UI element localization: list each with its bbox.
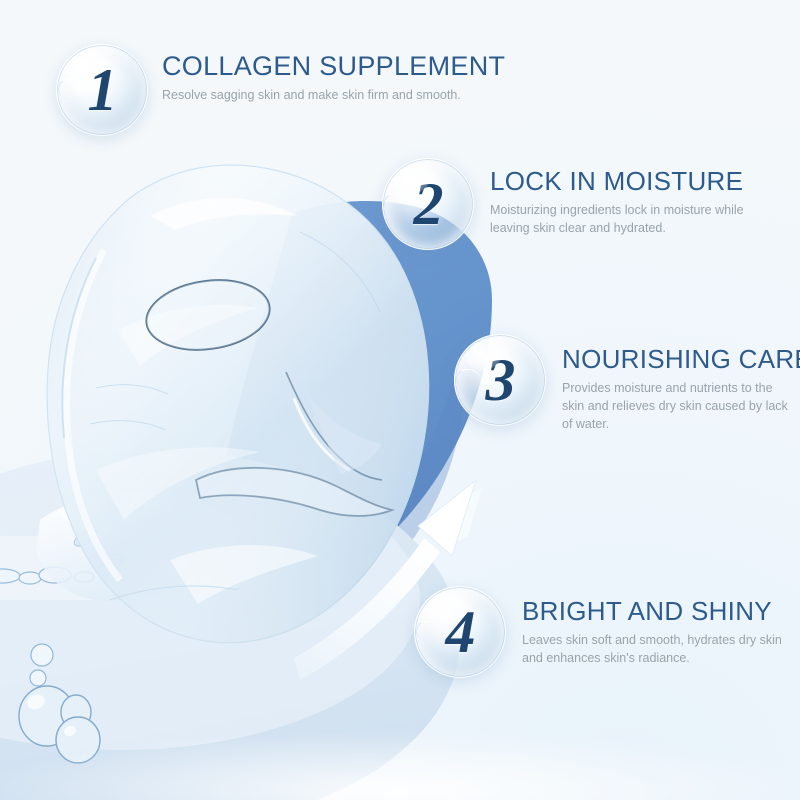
water-pool-with-bubbles (0, 450, 460, 800)
feature-4-headline: BRIGHT AND SHINY (522, 598, 782, 625)
feature-1-headline: COLLAGEN SUPPLEMENT (162, 52, 505, 80)
feature-4-body-line-1: Leaves skin soft and smooth, hydrates dr… (522, 632, 782, 650)
feature-3-copy: NOURISHING CARE Provides moisture and nu… (546, 334, 800, 434)
feature-3-body-line-3: of water. (562, 416, 800, 434)
bubble-number-2: 2 (382, 158, 474, 250)
number-bubble-4-icon: 4 (414, 586, 506, 678)
feature-item-2: 2 LOCK IN MOISTURE Moisturizing ingredie… (382, 158, 744, 250)
feature-2-body-line-2: leaving skin clear and hydrated. (490, 220, 744, 238)
water-splash-ribbon (36, 492, 276, 601)
feature-3-headline: NOURISHING CARE (562, 346, 800, 373)
feature-1-body: Resolve sagging skin and make skin firm … (162, 87, 492, 105)
number-bubble-2-icon: 2 (382, 158, 474, 250)
feature-4-copy: BRIGHT AND SHINY Leaves skin soft and sm… (506, 586, 782, 668)
product-infographic-poster: 1 COLLAGEN SUPPLEMENT Resolve sagging sk… (0, 0, 800, 800)
feature-item-4: 4 BRIGHT AND SHINY Leaves skin soft and … (414, 586, 782, 678)
feature-2-body-line-1: Moisturizing ingredients lock in moistur… (490, 202, 744, 220)
feature-3-body-line-1: Provides moisture and nutrients to the (562, 380, 800, 398)
number-bubble-3-icon: 3 (454, 334, 546, 426)
feature-2-copy: LOCK IN MOISTURE Moisturizing ingredient… (474, 158, 744, 238)
gel-sheet-mask-image (47, 165, 428, 643)
feature-1-copy: COLLAGEN SUPPLEMENT Resolve sagging skin… (148, 44, 505, 105)
bubble-number-3: 3 (454, 334, 546, 426)
feature-3-body: Provides moisture and nutrients to the s… (562, 380, 800, 433)
feature-4-body: Leaves skin soft and smooth, hydrates dr… (522, 632, 782, 668)
number-bubble-1-icon: 1 (56, 44, 148, 136)
feature-2-body: Moisturizing ingredients lock in moistur… (490, 202, 744, 238)
feature-2-headline: LOCK IN MOISTURE (490, 168, 744, 195)
feature-1-body-line-1: Resolve sagging skin and make skin firm … (162, 87, 492, 105)
feature-item-1: 1 COLLAGEN SUPPLEMENT Resolve sagging sk… (56, 44, 505, 136)
feature-3-body-line-2: skin and relieves dry skin caused by lac… (562, 398, 800, 416)
blue-background-swoosh (219, 201, 492, 612)
bubble-number-4: 4 (414, 586, 506, 678)
feature-4-body-line-2: and enhances skin's radiance. (522, 650, 782, 668)
feature-item-3: 3 NOURISHING CARE Provides moisture and … (454, 334, 800, 434)
bubble-number-1: 1 (56, 44, 148, 136)
